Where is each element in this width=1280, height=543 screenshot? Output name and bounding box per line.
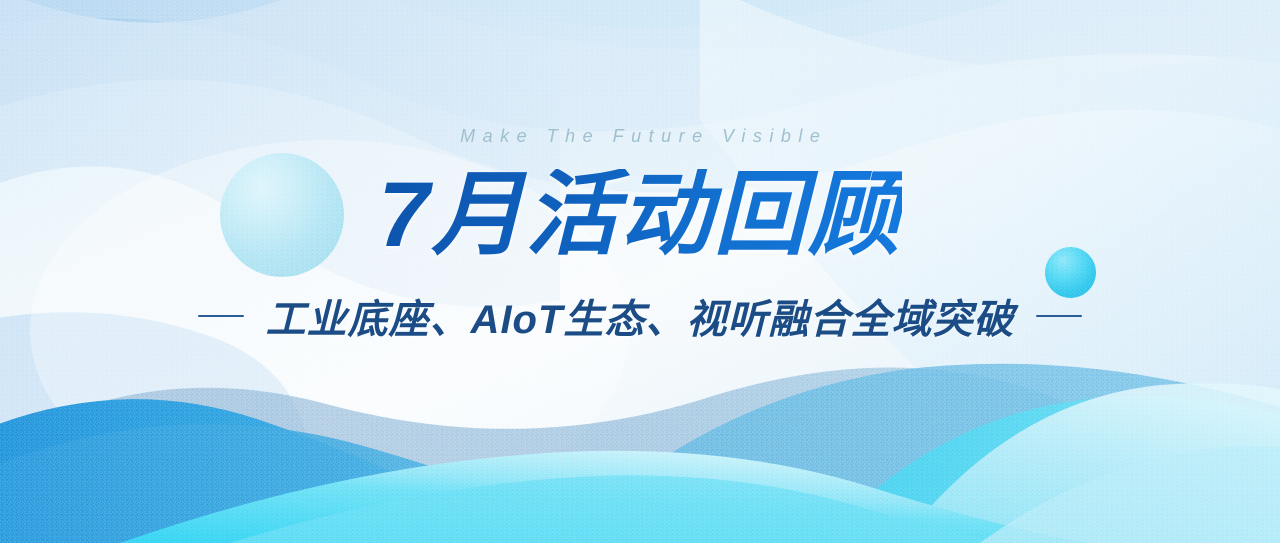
left-rule-divider bbox=[198, 315, 244, 317]
right-rule-divider bbox=[1036, 315, 1082, 317]
promo-banner: Make The Future Visible 7月活动回顾 工业底座、AIoT… bbox=[0, 0, 1280, 543]
banner-subtitle: 工业底座、AIoT生态、视听融合全域突破 bbox=[266, 287, 1015, 345]
banner-content: Make The Future Visible 7月活动回顾 工业底座、AIoT… bbox=[0, 0, 1280, 543]
banner-title: 7月活动回顾 bbox=[378, 169, 901, 261]
banner-tagline: Make The Future Visible bbox=[453, 126, 828, 147]
banner-subtitle-row: 工业底座、AIoT生态、视听融合全域突破 bbox=[198, 287, 1083, 345]
